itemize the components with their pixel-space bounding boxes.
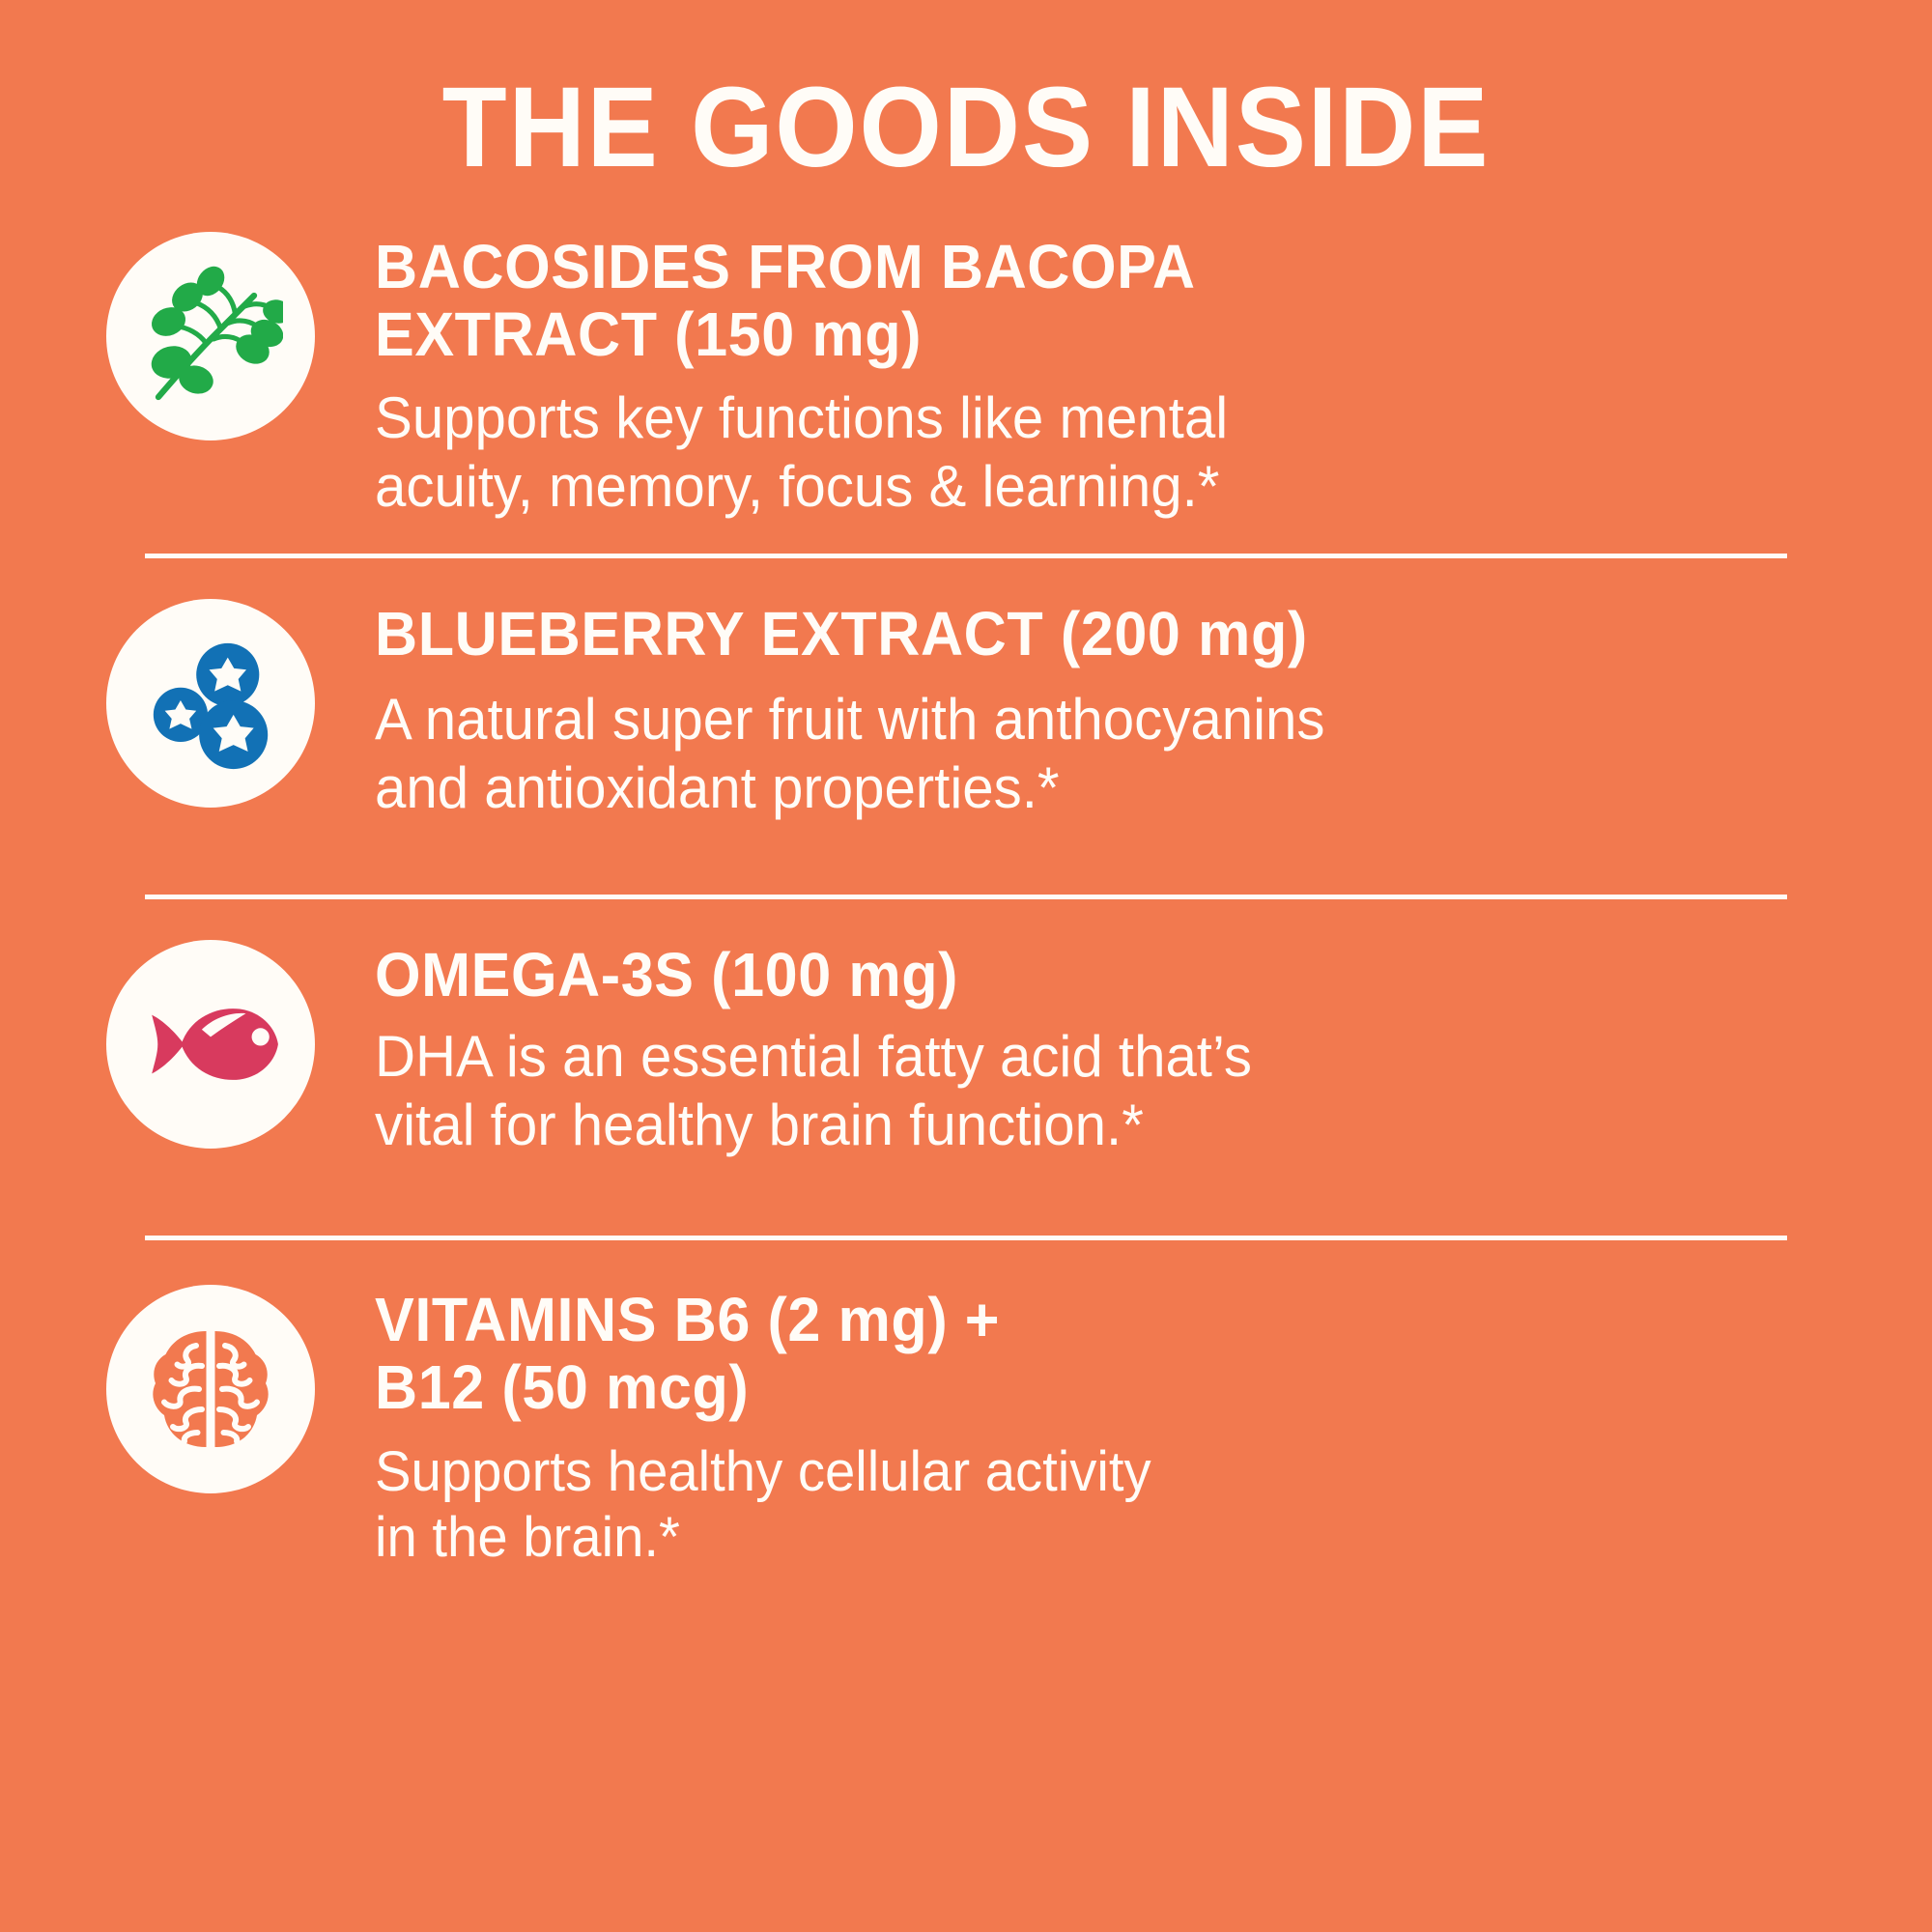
ingredient-text: OMEGA-3S (100 mg) DHA is an essential fa…	[375, 938, 1874, 1159]
ingredient-icon-badge	[106, 232, 315, 440]
ingredient-description: DHA is an essential fatty acid that’s vi…	[375, 1023, 1829, 1160]
leaf-sprig-icon	[138, 264, 283, 409]
divider	[145, 554, 1787, 558]
ingredient-icon-badge	[106, 1285, 315, 1493]
fish-icon	[137, 971, 284, 1118]
list-item: BLUEBERRY EXTRACT (200 mg) A natural sup…	[0, 580, 1932, 869]
ingredient-description: A natural super fruit with anthocyanins …	[375, 686, 1829, 823]
ingredient-description: Supports key functions like mental acuit…	[375, 384, 1829, 522]
ingredient-title: OMEGA-3S (100 mg)	[375, 942, 1806, 1009]
blueberries-icon	[139, 632, 282, 775]
ingredient-description: Supports healthy cellular activity in th…	[375, 1439, 1829, 1572]
ingredient-title: BACOSIDES FROM BACOPA EXTRACT (150 mg)	[375, 234, 1806, 369]
page-title: THE GOODS INSIDE	[68, 0, 1864, 185]
divider	[145, 1236, 1787, 1240]
ingredient-text: BLUEBERRY EXTRACT (200 mg) A natural sup…	[375, 597, 1874, 822]
ingredient-list: BACOSIDES FROM BACOPA EXTRACT (150 mg) S…	[0, 230, 1932, 1932]
ingredient-title: BLUEBERRY EXTRACT (200 mg)	[375, 601, 1806, 668]
list-item: VITAMINS B6 (2 mg) + B12 (50 mcg) Suppor…	[0, 1262, 1932, 1571]
ingredient-title: VITAMINS B6 (2 mg) + B12 (50 mcg)	[375, 1287, 1806, 1422]
ingredient-icon-badge	[106, 599, 315, 808]
brain-icon	[138, 1317, 283, 1462]
divider	[145, 895, 1787, 899]
list-item: BACOSIDES FROM BACOPA EXTRACT (150 mg) S…	[0, 230, 1932, 521]
ingredient-icon-badge	[106, 940, 315, 1149]
ingredient-text: BACOSIDES FROM BACOPA EXTRACT (150 mg) S…	[375, 230, 1874, 521]
goods-inside-infographic: THE GOODS INSIDE	[0, 0, 1932, 1932]
ingredient-text: VITAMINS B6 (2 mg) + B12 (50 mcg) Suppor…	[375, 1283, 1874, 1571]
list-item: OMEGA-3S (100 mg) DHA is an essential fa…	[0, 921, 1932, 1210]
